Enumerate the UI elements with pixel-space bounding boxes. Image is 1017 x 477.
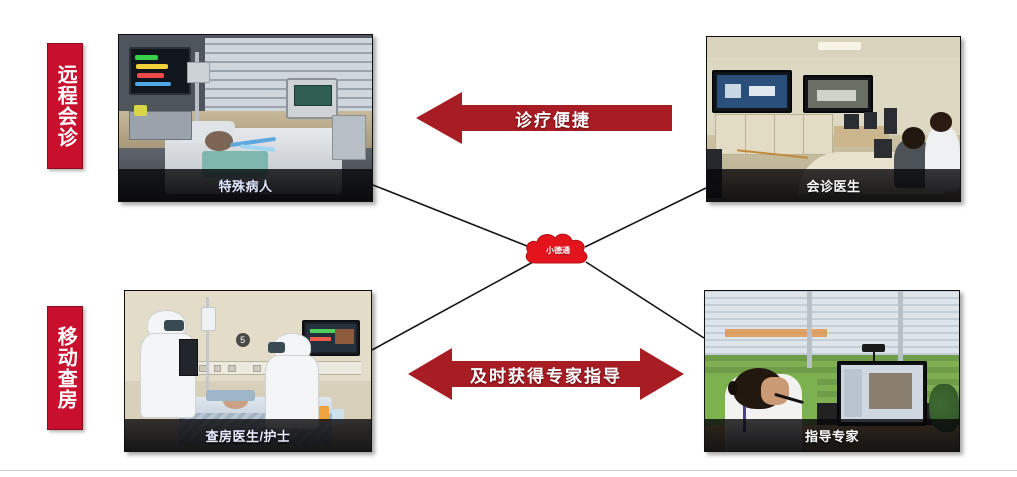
- panel-caption-bar: 查房医生/护士: [125, 419, 371, 451]
- ventilator-icon: [286, 78, 338, 119]
- connector-expert-to-cloud: [586, 262, 704, 338]
- connector-ward-round-to-cloud: [372, 262, 533, 350]
- side-label-mobile-ward-round: 移动查房: [47, 306, 83, 430]
- vital-signs-monitor-icon: [129, 47, 191, 96]
- arrow-diagnosis-convenient: 诊疗便捷: [416, 92, 672, 144]
- panel-caption-guiding-expert: 指导专家: [805, 426, 859, 445]
- connector-special-patient-to-cloud: [373, 185, 532, 248]
- bottom-divider: [0, 470, 1017, 471]
- diagram-canvas: 远程会诊 移动查房: [0, 0, 1017, 477]
- cloud-label: 小德通: [522, 231, 594, 267]
- panel-special-patient: 特殊病人: [118, 34, 373, 202]
- panel-caption-bar: 会诊医生: [707, 169, 960, 201]
- panel-ward-round-staff: 5 查房医生/护士: [124, 290, 372, 452]
- arrow-expert-guidance: 及时获得专家指导: [408, 348, 684, 400]
- arrow-bottom-label: 及时获得专家指导: [408, 348, 684, 400]
- wall-display-left-icon: [712, 70, 792, 113]
- panel-caption-ward-round-staff: 查房医生/护士: [205, 426, 290, 445]
- arrow-top-label: 诊疗便捷: [416, 92, 672, 144]
- panel-caption-bar: 指导专家: [705, 419, 959, 451]
- panel-caption-special-patient: 特殊病人: [218, 176, 272, 195]
- connector-consulting-doctor-to-cloud: [585, 188, 706, 247]
- side-label-remote-consultation: 远程会诊: [47, 43, 83, 169]
- headset-earpiece-icon: [728, 381, 738, 395]
- panel-caption-bar: 特殊病人: [119, 169, 372, 201]
- panel-guiding-expert: 指导专家: [704, 290, 960, 452]
- expert-monitor-icon: [837, 361, 927, 426]
- panel-caption-consulting-doctor: 会诊医生: [806, 176, 860, 195]
- side-label-ward-text: 移动查房: [54, 326, 76, 410]
- webcam-icon: [862, 344, 885, 352]
- side-label-remote-text: 远程会诊: [54, 64, 76, 148]
- cloud-network-node: 小德通: [522, 231, 594, 267]
- wall-display-right-icon: [803, 75, 873, 113]
- ppe-staff-right: [265, 355, 319, 429]
- panel-consulting-doctor: 会诊医生: [706, 36, 961, 202]
- bed-number-icon: 5: [236, 333, 250, 347]
